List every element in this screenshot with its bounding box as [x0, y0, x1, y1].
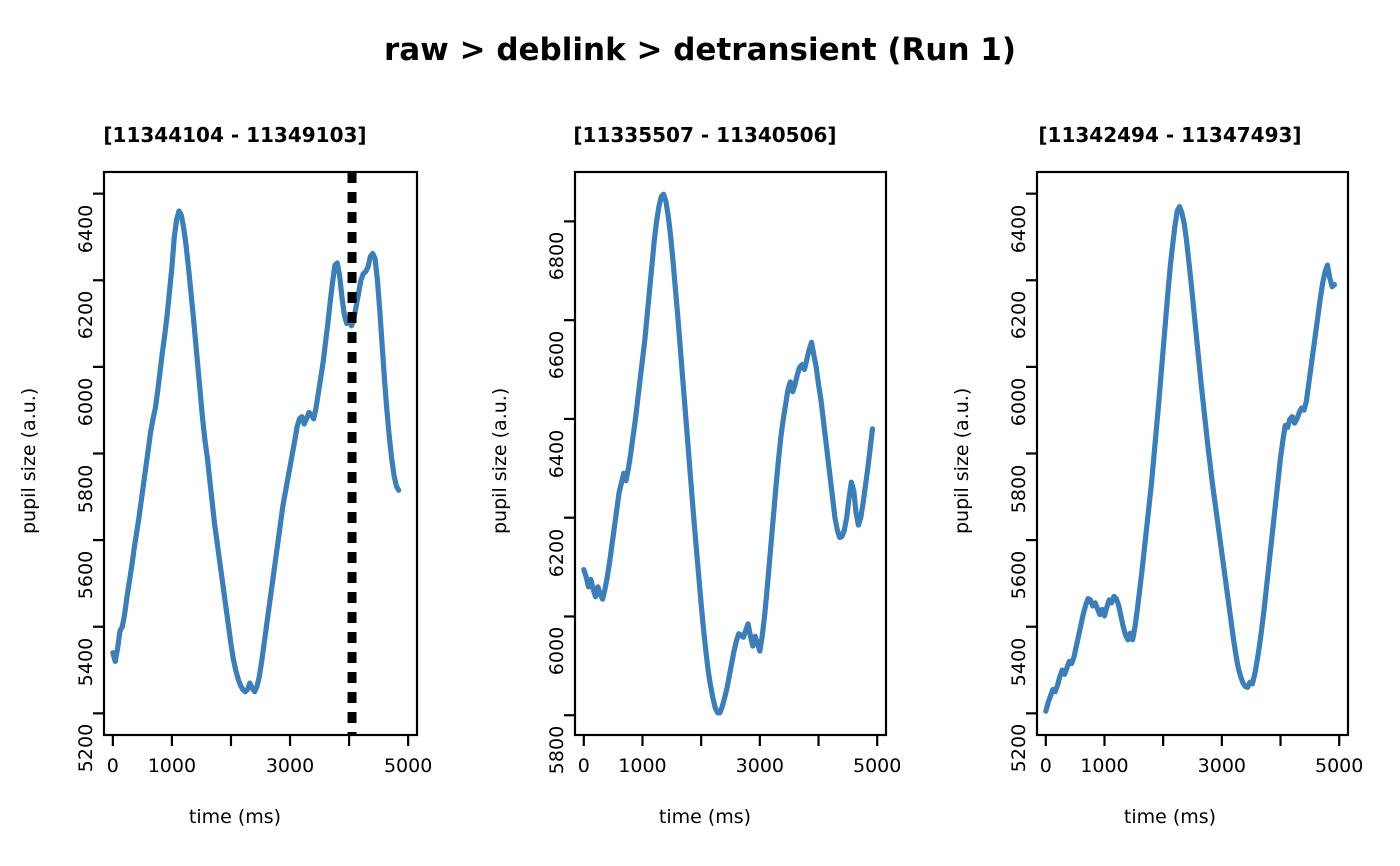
axes-group-1 [93, 172, 417, 746]
y-axis-label-2: pupil size (a.u.) [489, 387, 511, 533]
axes-frame [1037, 172, 1348, 735]
x-tick-label: 3000 [1162, 755, 1282, 777]
axes-frame [575, 172, 886, 735]
y-tick-label: 5600 [75, 540, 97, 610]
x-tick-label: 1000 [582, 755, 702, 777]
axes-group-3 [1026, 172, 1348, 746]
y-tick-label: 5200 [75, 713, 97, 783]
data-line-2 [584, 194, 873, 713]
y-tick-label: 6200 [546, 518, 568, 588]
x-tick-label: 3000 [700, 755, 820, 777]
y-tick-label: 6000 [546, 616, 568, 686]
y-tick-label: 5400 [1008, 627, 1030, 697]
y-tick-label: 6200 [75, 280, 97, 350]
x-tick-label: 1000 [1044, 755, 1164, 777]
y-tick-label: 6000 [1008, 367, 1030, 437]
x-tick-label: 5000 [817, 755, 937, 777]
y-tick-label: 6400 [75, 194, 97, 264]
x-tick-label: 5000 [348, 755, 468, 777]
plot-drawing-layer [0, 0, 1400, 866]
y-tick-label: 6400 [546, 419, 568, 489]
x-tick-label: 3000 [230, 755, 350, 777]
y-tick-label: 5400 [75, 627, 97, 697]
y-tick-label: 6000 [75, 367, 97, 437]
y-axis-label-1: pupil size (a.u.) [18, 387, 40, 533]
x-tick-label: 1000 [112, 755, 232, 777]
data-line-3 [1046, 207, 1335, 712]
x-tick-label: 5000 [1279, 755, 1399, 777]
y-tick-label: 6400 [1008, 194, 1030, 264]
y-tick-label: 6800 [546, 221, 568, 291]
y-tick-label: 6600 [546, 320, 568, 390]
y-axis-label-3: pupil size (a.u.) [951, 387, 973, 533]
y-tick-label: 5800 [546, 715, 568, 785]
y-tick-label: 5200 [1008, 713, 1030, 783]
y-tick-label: 5800 [75, 454, 97, 524]
y-tick-label: 5600 [1008, 540, 1030, 610]
y-tick-label: 6200 [1008, 280, 1030, 350]
axes-group-2 [564, 172, 886, 746]
y-tick-label: 5800 [1008, 454, 1030, 524]
figure-canvas: raw > deblink > detransient (Run 1) [113… [0, 0, 1400, 866]
